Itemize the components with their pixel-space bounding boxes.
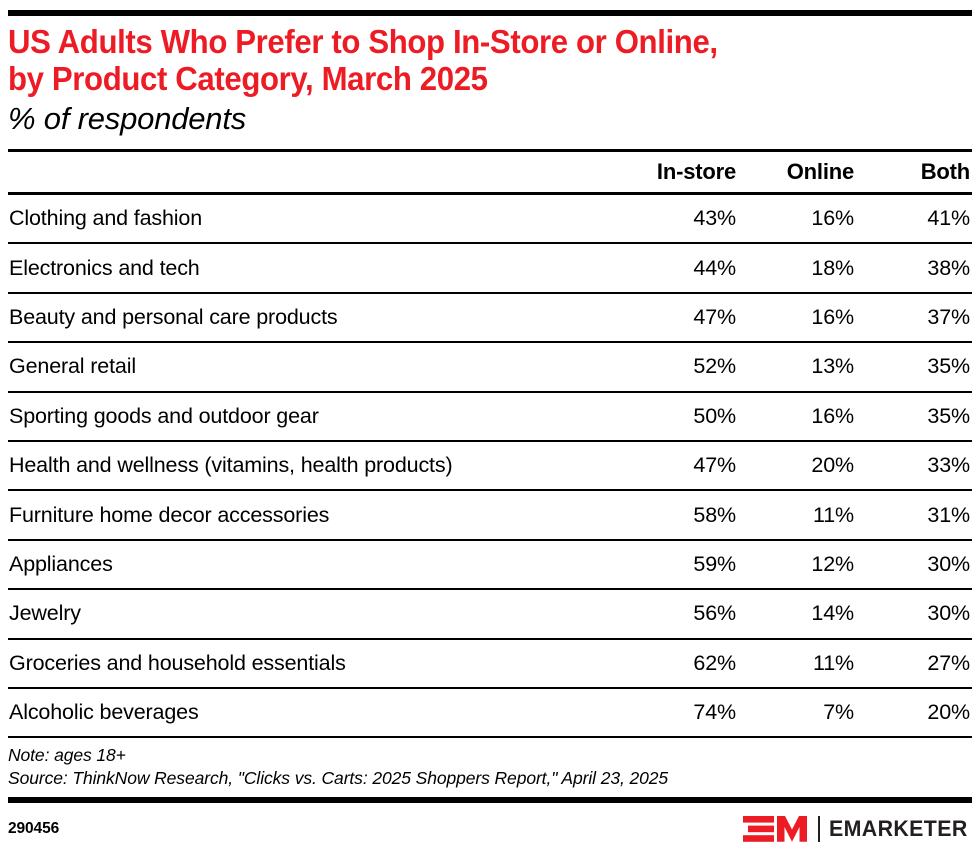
table-header: In-store Online Both xyxy=(8,151,972,194)
table-row: Beauty and personal care products 47% 16… xyxy=(8,293,972,342)
row-label: Appliances xyxy=(8,540,605,589)
chart-page: US Adults Who Prefer to Shop In-Store or… xyxy=(0,10,980,866)
cell-online: 16% xyxy=(738,293,856,342)
table-row: General retail 52% 13% 35% xyxy=(8,342,972,391)
source-text: Source: ThinkNow Research, "Clicks vs. C… xyxy=(8,767,972,790)
cell-in-store: 52% xyxy=(605,342,738,391)
table-row: Jewelry 56% 14% 30% xyxy=(8,589,972,638)
note-text: Note: ages 18+ xyxy=(8,744,972,767)
cell-in-store: 44% xyxy=(605,243,738,292)
table-header-row: In-store Online Both xyxy=(8,151,972,194)
cell-in-store: 62% xyxy=(605,639,738,688)
cell-in-store: 43% xyxy=(605,194,738,244)
title-block: US Adults Who Prefer to Shop In-Store or… xyxy=(8,16,972,138)
data-table: In-store Online Both Clothing and fashio… xyxy=(8,149,972,738)
cell-online: 16% xyxy=(738,194,856,244)
notes-block: Note: ages 18+ Source: ThinkNow Research… xyxy=(8,744,972,790)
row-label: Health and wellness (vitamins, health pr… xyxy=(8,441,605,490)
column-header-category xyxy=(8,151,605,194)
cell-online: 16% xyxy=(738,392,856,441)
cell-online: 20% xyxy=(738,441,856,490)
cell-both: 31% xyxy=(856,490,972,539)
table-row: Health and wellness (vitamins, health pr… xyxy=(8,441,972,490)
cell-online: 11% xyxy=(738,490,856,539)
column-header-online: Online xyxy=(738,151,856,194)
cell-both: 33% xyxy=(856,441,972,490)
brand-divider xyxy=(818,816,820,842)
cell-in-store: 47% xyxy=(605,293,738,342)
table-row: Appliances 59% 12% 30% xyxy=(8,540,972,589)
brand-name: EMARKETER xyxy=(829,816,968,842)
cell-in-store: 59% xyxy=(605,540,738,589)
cell-both: 20% xyxy=(856,688,972,737)
data-table-wrapper: In-store Online Both Clothing and fashio… xyxy=(8,149,972,738)
cell-both: 35% xyxy=(856,342,972,391)
table-row: Groceries and household essentials 62% 1… xyxy=(8,639,972,688)
cell-online: 18% xyxy=(738,243,856,292)
table-row: Alcoholic beverages 74% 7% 20% xyxy=(8,688,972,737)
page-subtitle: % of respondents xyxy=(8,100,972,138)
cell-online: 13% xyxy=(738,342,856,391)
cell-online: 14% xyxy=(738,589,856,638)
cell-in-store: 58% xyxy=(605,490,738,539)
row-label: Sporting goods and outdoor gear xyxy=(8,392,605,441)
brand-logo: EMARKETER xyxy=(743,815,972,843)
row-label: Furniture home decor accessories xyxy=(8,490,605,539)
cell-in-store: 50% xyxy=(605,392,738,441)
page-title: US Adults Who Prefer to Shop In-Store or… xyxy=(8,24,905,98)
cell-both: 41% xyxy=(856,194,972,244)
cell-in-store: 47% xyxy=(605,441,738,490)
column-header-in-store: In-store xyxy=(605,151,738,194)
table-row: Electronics and tech 44% 18% 38% xyxy=(8,243,972,292)
footer: 290456 EMARKETER xyxy=(8,803,972,849)
cell-both: 35% xyxy=(856,392,972,441)
row-label: Electronics and tech xyxy=(8,243,605,292)
cell-both: 30% xyxy=(856,540,972,589)
row-label: General retail xyxy=(8,342,605,391)
table-row: Furniture home decor accessories 58% 11%… xyxy=(8,490,972,539)
cell-online: 11% xyxy=(738,639,856,688)
row-label: Alcoholic beverages xyxy=(8,688,605,737)
cell-both: 30% xyxy=(856,589,972,638)
row-label: Beauty and personal care products xyxy=(8,293,605,342)
table-row: Sporting goods and outdoor gear 50% 16% … xyxy=(8,392,972,441)
cell-in-store: 74% xyxy=(605,688,738,737)
table-body: Clothing and fashion 43% 16% 41% Electro… xyxy=(8,194,972,738)
table-row: Clothing and fashion 43% 16% 41% xyxy=(8,194,972,244)
cell-online: 7% xyxy=(738,688,856,737)
column-header-both: Both xyxy=(856,151,972,194)
row-label: Jewelry xyxy=(8,589,605,638)
em-logo-icon xyxy=(743,815,809,843)
row-label: Groceries and household essentials xyxy=(8,639,605,688)
row-label: Clothing and fashion xyxy=(8,194,605,244)
cell-both: 37% xyxy=(856,293,972,342)
chart-id: 290456 xyxy=(8,820,59,838)
cell-online: 12% xyxy=(738,540,856,589)
cell-both: 38% xyxy=(856,243,972,292)
cell-in-store: 56% xyxy=(605,589,738,638)
cell-both: 27% xyxy=(856,639,972,688)
